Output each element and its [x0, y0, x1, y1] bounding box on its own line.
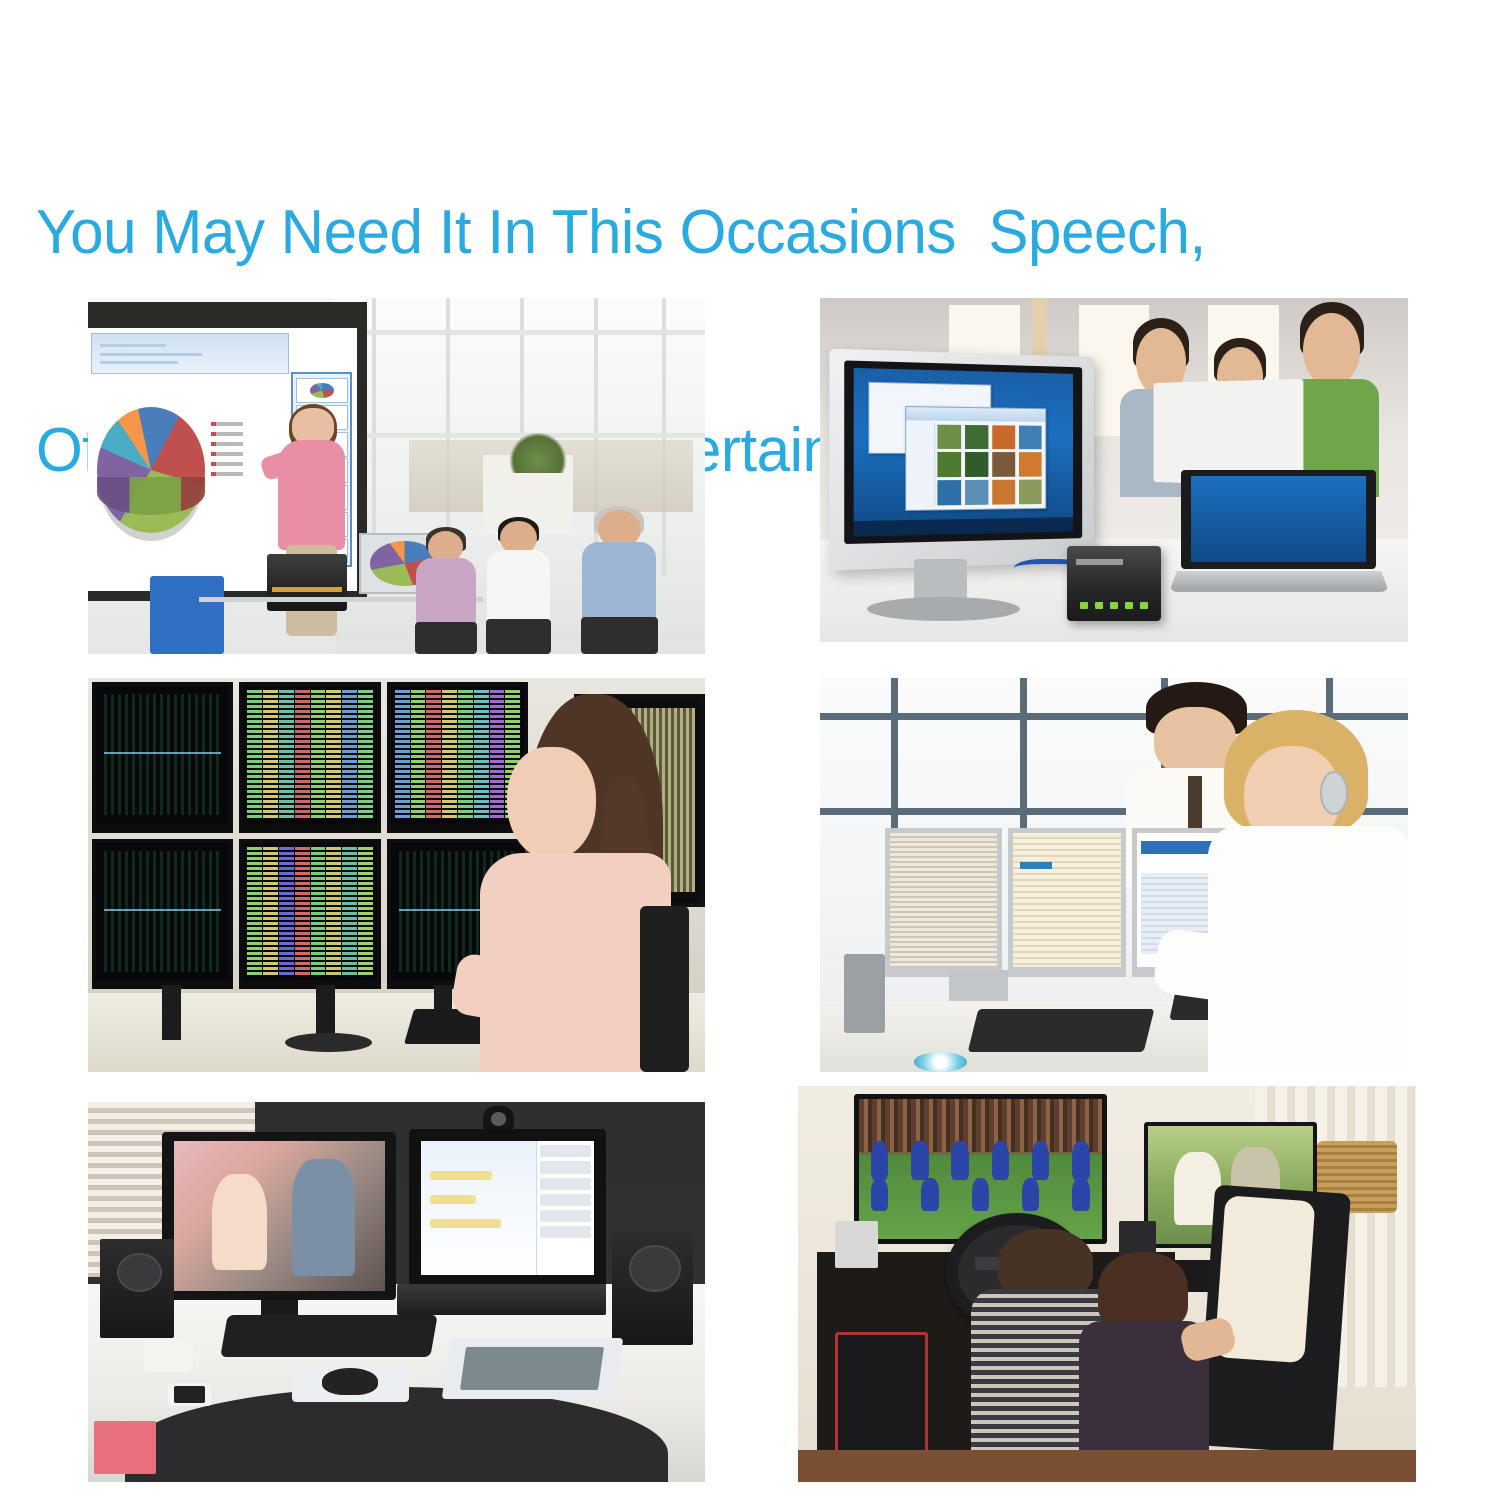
notebook-computer	[1173, 470, 1385, 608]
speaker-right	[612, 1231, 692, 1345]
scene-office-splitter	[820, 298, 1408, 642]
notebook-lid	[1181, 470, 1376, 569]
monitor-center	[1008, 828, 1126, 978]
audience-person	[415, 531, 477, 654]
monitor-stand	[162, 985, 181, 1040]
magazine	[94, 1421, 156, 1474]
actor-figure	[292, 1159, 355, 1276]
speaker	[844, 954, 885, 1033]
actress-figure	[212, 1174, 267, 1270]
slide-thumbnail[interactable]	[296, 378, 348, 403]
led-indicators	[1080, 602, 1148, 610]
projector-device	[267, 554, 347, 611]
gallery-photo-office-support: Woman wearing a telephone headset workin…	[820, 678, 1408, 1072]
viewer-person-female	[1076, 1252, 1212, 1482]
scene-living-room-gaming	[798, 1086, 1416, 1482]
monitor-bezel	[843, 360, 1081, 544]
pie-chart	[97, 407, 206, 533]
coffee-mug	[144, 1338, 193, 1372]
mouse[interactable]	[322, 1368, 378, 1395]
trader-person	[458, 694, 680, 1072]
blue-chair	[150, 576, 224, 654]
trading-monitor	[239, 682, 380, 833]
window-titlebar	[905, 407, 1044, 422]
team-front-row	[871, 1178, 1090, 1212]
trading-monitor	[92, 839, 233, 990]
speaker-left	[100, 1239, 174, 1338]
agent-person	[1208, 710, 1408, 1072]
pc-tower	[835, 1332, 928, 1457]
candlestick-chart	[104, 851, 221, 972]
cd-disc	[914, 1052, 967, 1072]
scene-trading-desk	[88, 678, 705, 1072]
audience-person	[486, 521, 551, 654]
plant-icon	[508, 433, 568, 473]
thumbnail-grid	[937, 424, 1041, 505]
audience-group	[409, 483, 705, 654]
headset-icon	[1320, 771, 1348, 815]
slide-toolbar	[91, 333, 288, 375]
keyboard[interactable]	[220, 1315, 437, 1357]
window-sidebar	[908, 422, 935, 506]
face	[507, 747, 596, 860]
speaker-left	[835, 1221, 878, 1269]
floor	[798, 1450, 1416, 1482]
scene-call-center	[820, 678, 1408, 1072]
trading-monitor	[239, 839, 380, 990]
notebook-screen	[1191, 476, 1366, 562]
quote-table	[247, 847, 372, 976]
desktop-monitor	[829, 349, 1094, 571]
arm	[1152, 927, 1264, 1006]
chat-monitor	[409, 1129, 606, 1289]
photo-gallery-window[interactable]	[904, 406, 1045, 511]
mobile-phone[interactable]	[168, 1383, 211, 1406]
team-back-row	[871, 1141, 1090, 1180]
headline-line-1: You May Need It In This Occasions Speech…	[36, 197, 1433, 270]
trading-monitor	[92, 682, 233, 833]
office-chair	[640, 906, 689, 1072]
occasion-gallery: Presenter at an interactive whiteboard s…	[0, 296, 1500, 1476]
game-display-screen	[859, 1099, 1102, 1239]
chat-monitor-screen	[421, 1141, 595, 1275]
taskbar[interactable]	[854, 517, 1073, 536]
ceiling-beam	[335, 330, 705, 335]
contact-list[interactable]	[536, 1141, 595, 1275]
pie-chart-legend	[211, 422, 244, 482]
gallery-photo-entertainment-desk: Home corner desk with a widescreen monit…	[88, 1102, 705, 1482]
monitor-screen	[854, 368, 1073, 536]
device-label	[1076, 559, 1123, 565]
gallery-photo-entertainment-gaming: Couple seated in front of two displays, …	[798, 1086, 1416, 1482]
monitor-left	[885, 828, 1003, 978]
chat-window[interactable]	[421, 1141, 536, 1275]
gallery-photo-stock-market: Female trader at a six-screen wall of ca…	[88, 678, 705, 1072]
monitor-base	[285, 1033, 371, 1053]
graphics-tablet[interactable]	[442, 1338, 623, 1399]
scene-conference-presentation	[88, 298, 705, 654]
audience-person	[581, 510, 658, 654]
video-monitor-screen	[174, 1141, 385, 1291]
gallery-photo-speech: Presenter at an interactive whiteboard s…	[88, 298, 705, 654]
scene-home-desk	[88, 1102, 705, 1482]
gallery-photo-office: Desktop monitor and notebook mirrored th…	[820, 298, 1408, 642]
av-rack-device	[397, 1284, 607, 1314]
quote-table	[247, 690, 372, 819]
notebook-keyboard[interactable]	[1169, 571, 1389, 592]
keyboard-primary[interactable]	[967, 1009, 1154, 1052]
video-splitter-device	[1067, 546, 1161, 622]
video-monitor	[162, 1132, 396, 1299]
candlestick-chart	[104, 694, 221, 815]
